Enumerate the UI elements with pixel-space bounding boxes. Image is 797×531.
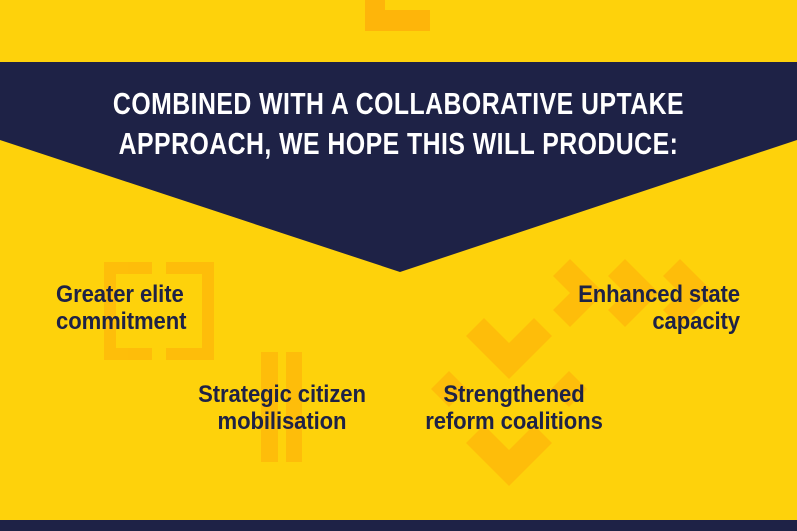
outcome-line-2: mobilisation	[181, 408, 383, 435]
outcome-strengthened-reform-coalitions: Strengthened reform coalitions	[413, 381, 615, 435]
banner-heading-line-1: Combined with a collaborative uptake	[80, 84, 718, 124]
outcome-line-2: reform coalitions	[413, 408, 615, 435]
outcome-line-2: commitment	[56, 308, 240, 335]
outcome-strategic-citizen-mobilisation: Strategic citizen mobilisation	[181, 381, 383, 435]
outcome-line-1: Greater elite	[56, 281, 240, 308]
outcome-line-1: Enhanced state	[556, 281, 740, 308]
outcome-line-1: Strengthened	[413, 381, 615, 408]
banner-heading: Combined with a collaborative uptake app…	[80, 84, 718, 164]
outcome-enhanced-state-capacity: Enhanced state capacity	[556, 281, 740, 335]
infographic-canvas: Combined with a collaborative uptake app…	[0, 0, 797, 531]
banner-shape	[0, 0, 797, 531]
outcome-line-2: capacity	[556, 308, 740, 335]
outcome-greater-elite-commitment: Greater elite commitment	[56, 281, 240, 335]
outcome-line-1: Strategic citizen	[181, 381, 383, 408]
footer-bar	[0, 520, 797, 531]
banner-heading-line-2: approach, we hope this will produce:	[80, 124, 718, 164]
